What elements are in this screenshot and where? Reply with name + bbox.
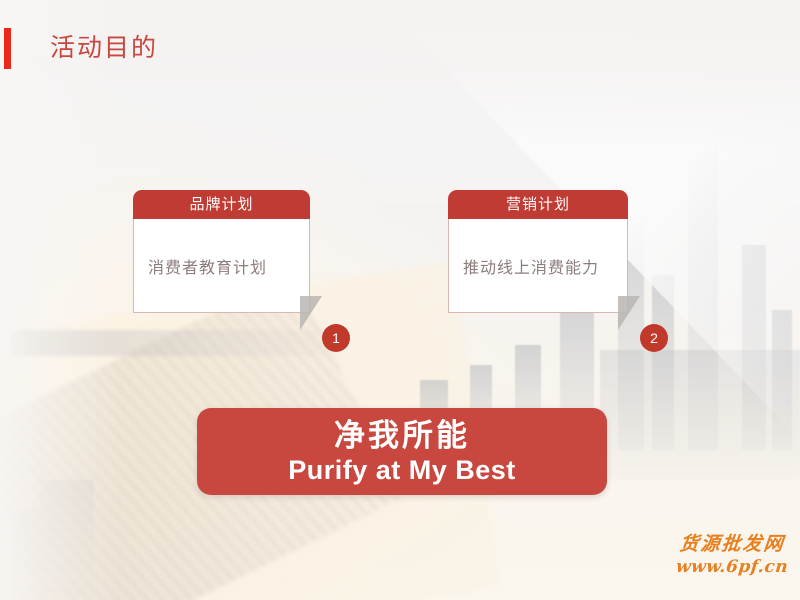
background-photo-shanghai-skyline bbox=[0, 0, 800, 600]
card-header-label: 品牌计划 bbox=[133, 190, 310, 219]
slogan-banner: 净我所能 Purify at My Best bbox=[197, 408, 607, 495]
card-brand-plan[interactable]: 品牌计划 消费者教育计划 bbox=[133, 190, 310, 313]
slogan-chinese: 净我所能 bbox=[334, 418, 470, 454]
page-title: 活动目的 bbox=[50, 30, 158, 66]
card-badge-2: 2 bbox=[640, 324, 668, 352]
card-header-label: 营销计划 bbox=[448, 190, 628, 219]
card-body-text: 推动线上消费能力 bbox=[463, 254, 599, 278]
left-haze-overlay bbox=[0, 0, 120, 600]
slogan-english: Purify at My Best bbox=[288, 454, 516, 486]
card-tail-pointer-2 bbox=[618, 296, 640, 330]
card-body: 消费者教育计划 bbox=[133, 219, 310, 313]
slide-canvas: 活动目的 品牌计划 消费者教育计划 1 营销计划 推动线上消费能力 2 净我所能… bbox=[0, 0, 800, 600]
card-badge-1: 1 bbox=[322, 324, 350, 352]
card-tail-pointer-1 bbox=[300, 296, 322, 330]
card-body: 推动线上消费能力 bbox=[448, 219, 628, 313]
card-body-text: 消费者教育计划 bbox=[148, 254, 267, 278]
top-haze-overlay bbox=[0, 0, 800, 150]
title-accent-bar bbox=[4, 28, 11, 69]
card-marketing-plan[interactable]: 营销计划 推动线上消费能力 bbox=[448, 190, 628, 313]
